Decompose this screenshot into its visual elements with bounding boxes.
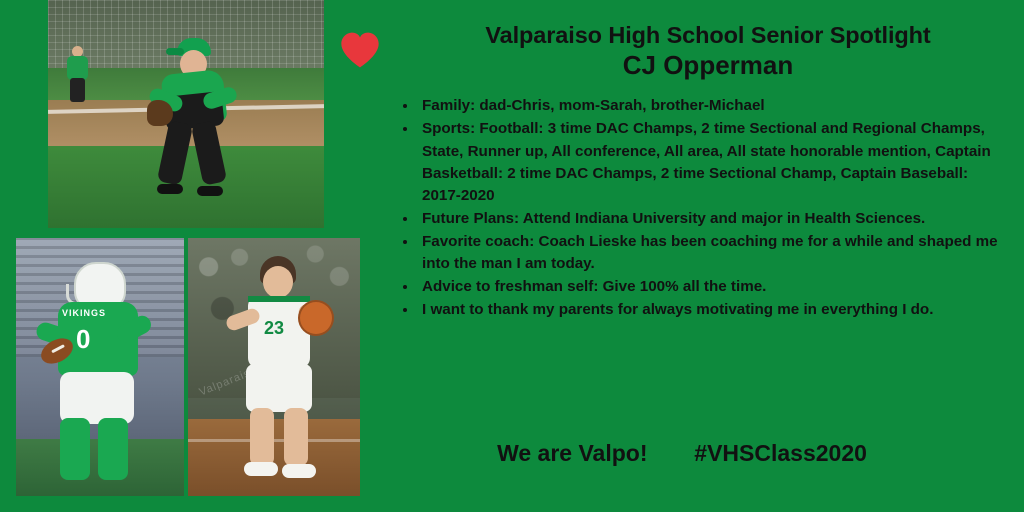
football-player: VIKINGS 0 — [30, 262, 170, 490]
basketball-right-leg — [284, 408, 308, 466]
football-photo: VIKINGS 0 — [16, 238, 184, 496]
spotlight-content: Valparaiso High School Senior Spotlight … — [372, 0, 1024, 512]
list-item: Family: dad-Chris, mom-Sarah, brother-Mi… — [418, 95, 1024, 117]
list-item: Future Plans: Attend Indiana University … — [418, 208, 1024, 230]
football-left-leg — [60, 418, 90, 480]
list-item: Favorite coach: Coach Lieske has been co… — [418, 231, 1024, 275]
basketball-left-shoe — [244, 462, 278, 476]
list-item: Sports: Football: 3 time DAC Champs, 2 t… — [418, 118, 1024, 206]
footer-hashtag: #VHSClass2020 — [694, 440, 867, 466]
basketball-player: 23 — [224, 256, 334, 488]
baseball-background-player — [65, 46, 91, 102]
basketball-photo: Valparaiso Athletics 23 — [188, 238, 360, 496]
football-right-leg — [98, 418, 128, 480]
basketball-shorts — [246, 364, 312, 412]
football-pants — [60, 372, 134, 424]
baseball-photo — [48, 0, 324, 228]
football-jersey-number: 0 — [76, 324, 90, 355]
page-title: Valparaiso High School Senior Spotlight — [372, 22, 1024, 49]
basketball-right-shoe — [282, 464, 316, 478]
poster-footer: We are Valpo! #VHSClass2020 — [372, 440, 992, 467]
football-team-wordmark: VIKINGS — [62, 308, 106, 318]
student-name: CJ Opperman — [372, 50, 1024, 81]
baseball-left-shoe — [157, 184, 183, 194]
basketball-jersey-number: 23 — [264, 318, 284, 339]
senior-spotlight-poster: VIKINGS 0 Valparaiso Athletics 23 — [0, 0, 1024, 512]
list-item: Advice to freshman self: Give 100% all t… — [418, 276, 1024, 298]
spotlight-bullet-list: Family: dad-Chris, mom-Sarah, brother-Mi… — [372, 95, 1024, 320]
footer-slogan: We are Valpo! — [497, 440, 647, 466]
basketball-ball — [298, 300, 334, 336]
baseball-main-player — [147, 34, 251, 212]
basketball-left-leg — [250, 408, 274, 466]
list-item: I want to thank my parents for always mo… — [418, 299, 1024, 321]
basketball-head — [263, 266, 293, 298]
basketball-jersey-stripe — [248, 296, 310, 302]
heart-icon — [338, 30, 382, 70]
baseball-right-shoe — [197, 186, 223, 196]
poster-header: Valparaiso High School Senior Spotlight … — [372, 0, 1024, 81]
